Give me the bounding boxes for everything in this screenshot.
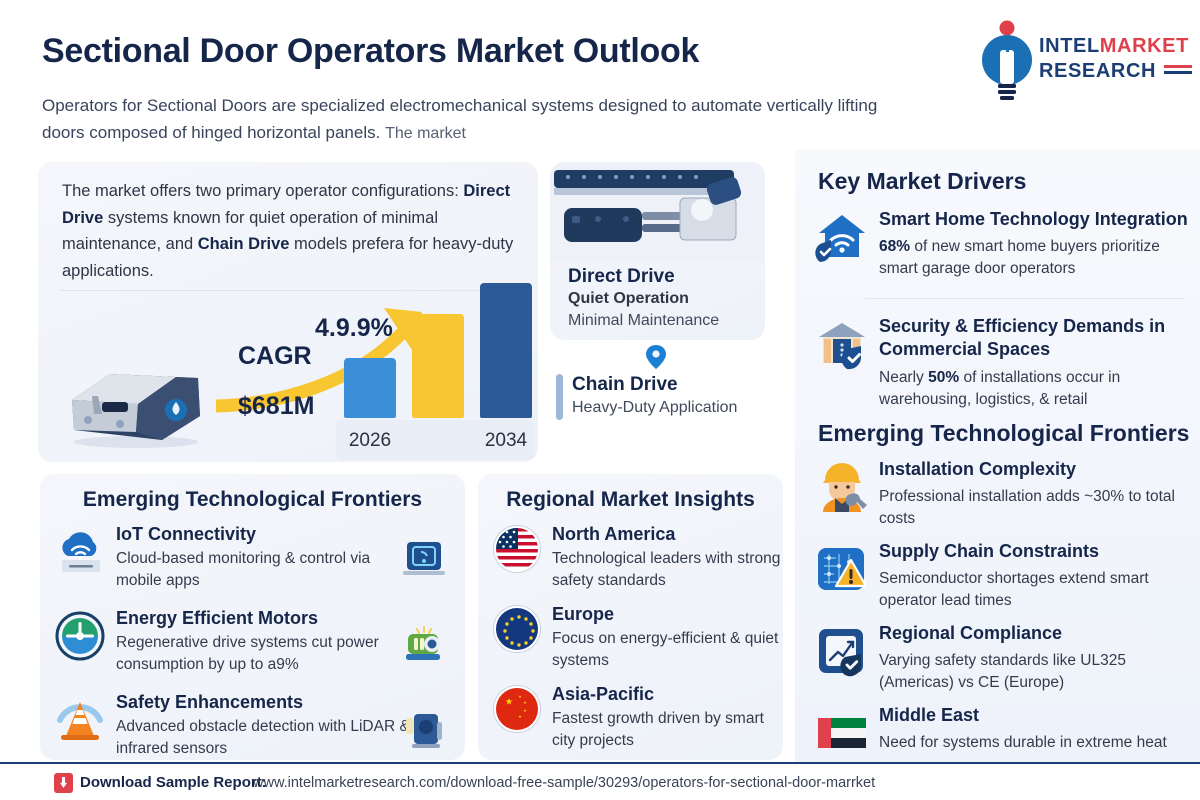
region-title: Europe: [552, 604, 614, 625]
bar-2034: [480, 283, 532, 418]
driver-stat: 68%: [879, 238, 910, 255]
brand-logo[interactable]: INTELMARKET RESEARCH: [977, 16, 1182, 104]
page-title: Sectional Door Operators Market Outlook: [42, 32, 699, 71]
driver-desc-pre: Nearly: [879, 369, 928, 386]
chain-drive-subtitle: Heavy-Duty Application: [572, 399, 737, 417]
door-operator-device-icon: [58, 344, 208, 449]
green-motor-icon: [400, 620, 448, 668]
driver-title: Security & Efficiency Demands in Commerc…: [879, 315, 1194, 361]
traffic-cone-icon: [54, 694, 106, 746]
logo-text-intel: INTEL: [1039, 35, 1100, 57]
flag-china-icon: [494, 686, 540, 732]
download-icon: [54, 773, 73, 793]
frontier-title: Regional Compliance: [879, 622, 1194, 645]
tech-item-desc: Cloud-based monitoring & control via mob…: [116, 548, 416, 592]
logo-wordmark: INTELMARKET RESEARCH: [1039, 34, 1192, 84]
intro-bold-chain-drive: Chain Drive: [198, 235, 290, 253]
tech-item-desc: Regenerative drive systems cut power con…: [116, 632, 416, 676]
infographic-page: Sectional Door Operators Market Outlook …: [0, 0, 1200, 800]
subtitle-tail: The market: [385, 125, 466, 142]
driver-title: Smart Home Technology Integration: [879, 208, 1194, 231]
growth-bar-chart: CAGR 4.9.9% $681M 2026 2034: [38, 294, 538, 462]
tech-item-title: IoT Connectivity: [116, 524, 256, 545]
laptop-nfc-icon: [400, 536, 448, 584]
intro-divider: [60, 290, 515, 291]
cloud-wifi-icon: [54, 526, 106, 578]
frontier-desc: Semiconductor shortages extend smart ope…: [879, 568, 1197, 612]
direct-drive-feature-1: Quiet Operation: [568, 290, 689, 308]
region-title: Asia-Pacific: [552, 684, 654, 705]
header: Sectional Door Operators Market Outlook …: [0, 0, 1200, 150]
logo-text-market: MARKET: [1100, 35, 1189, 57]
frontier-desc: Professional installation adds ~30% to t…: [879, 486, 1197, 530]
bar-2026: [344, 358, 396, 418]
intro-paragraph: The market offers two primary operator c…: [62, 178, 522, 284]
tech-panel-heading: Emerging Technological Frontiers: [40, 488, 465, 512]
footer-bar: Download Sample Report: www.intelmarketr…: [0, 762, 1200, 800]
supply-chain-warning-icon: [815, 542, 869, 596]
tech-frontiers-panel: Emerging Technological Frontiers IoT Con…: [40, 474, 465, 760]
frontier-title: Supply Chain Constraints: [879, 540, 1194, 563]
region-title: North America: [552, 524, 675, 545]
region-desc: Fastest growth driven by smart city proj…: [552, 708, 782, 752]
frontier-desc: Need for systems durable in extreme heat: [879, 732, 1197, 754]
flag-usa-icon: [494, 526, 540, 572]
lightbulb-logo-icon: [977, 20, 1037, 104]
frontier-desc: Varying safety standards like UL325 (Ame…: [879, 650, 1197, 694]
frontier-title: Installation Complexity: [879, 458, 1194, 481]
direct-drive-feature-2: Minimal Maintenance: [568, 312, 719, 330]
cagr-label: CAGR: [238, 342, 312, 371]
bar-label-2034: 2034: [476, 430, 536, 452]
regional-insights-panel: Regional Market Insights: [478, 474, 783, 760]
key-market-drivers-heading: Key Market Drivers: [818, 168, 1026, 195]
tech-item-title: Safety Enhancements: [116, 692, 303, 713]
efficiency-gauge-icon: [54, 610, 106, 662]
flag-eu-icon: [494, 606, 540, 652]
tech-item-desc: Advanced obstacle detection with LiDAR &…: [116, 716, 416, 760]
location-pin-icon: [645, 344, 667, 370]
region-desc: Technological leaders with strong safety…: [552, 548, 782, 592]
driver-desc-rest: of new smart home buyers prioritize smar…: [879, 238, 1160, 277]
download-url[interactable]: www.intelmarketresearch.com/download-fre…: [253, 775, 875, 791]
intro-part-1: The market offers two primary operator c…: [62, 182, 463, 200]
direct-drive-rail-icon: [550, 162, 765, 262]
driver-stat: 50%: [928, 369, 959, 386]
bar-mid: [412, 314, 464, 418]
chain-drive-title: Chain Drive: [572, 374, 678, 396]
bar-label-2026: 2026: [340, 430, 400, 452]
driver-desc: Nearly 50% of installations occur in war…: [879, 367, 1197, 411]
intro-chart-panel: The market offers two primary operator c…: [38, 162, 538, 462]
download-label: Download Sample Report:: [80, 774, 267, 791]
market-value-label: $681M: [238, 392, 314, 421]
flag-uae-icon: [815, 706, 869, 760]
sidebar-divider: [865, 298, 1185, 299]
bar-group: 2026 2034: [336, 294, 536, 462]
sidebar-frontiers-heading: Emerging Technological Frontiers: [818, 420, 1189, 447]
warehouse-shield-icon: [815, 317, 869, 371]
right-sidebar: Key Market Drivers Smart Home Technology…: [795, 150, 1200, 762]
direct-drive-title: Direct Drive: [568, 266, 675, 288]
region-panel-heading: Regional Market Insights: [478, 488, 783, 512]
page-subtitle: Operators for Sectional Doors are specia…: [42, 92, 922, 147]
direct-drive-panel: Direct Drive Quiet Operation Minimal Mai…: [550, 162, 765, 340]
driver-desc: 68% of new smart home buyers prioritize …: [879, 236, 1197, 280]
tech-item-title: Energy Efficient Motors: [116, 608, 318, 629]
subtitle-line-1: Operators for Sectional Doors are specia…: [42, 96, 762, 115]
chain-drive-accent-bar: [556, 374, 563, 420]
region-desc: Focus on energy-efficient & quiet system…: [552, 628, 782, 672]
smart-home-shield-icon: [815, 210, 869, 264]
sensor-unit-icon: [400, 704, 448, 752]
logo-text-research: RESEARCH: [1039, 58, 1156, 84]
frontier-title: Middle East: [879, 704, 1194, 727]
logo-bars-icon: [1164, 65, 1192, 77]
compliance-chart-icon: [815, 624, 869, 678]
technician-wrench-icon: [815, 460, 869, 514]
